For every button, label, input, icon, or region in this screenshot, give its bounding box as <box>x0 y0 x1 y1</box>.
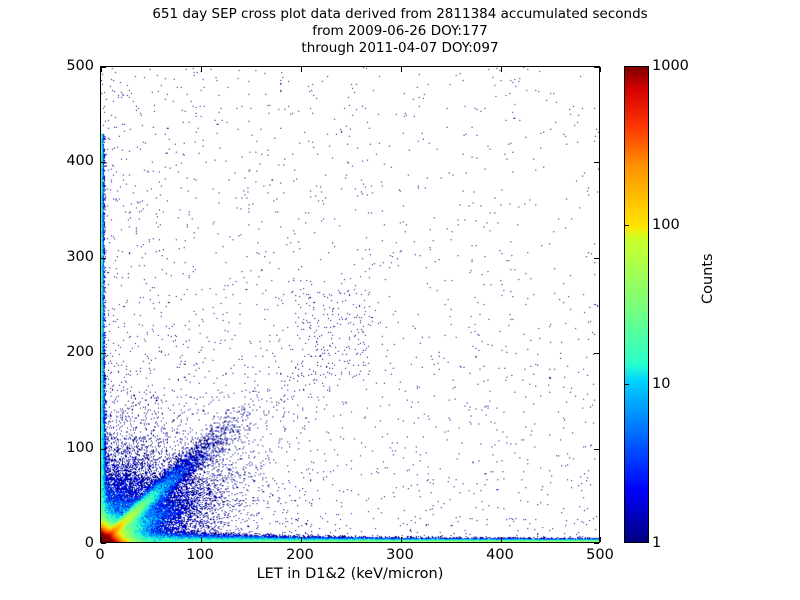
x-tick <box>401 67 402 72</box>
x-tick <box>301 537 302 542</box>
y-tick <box>101 162 106 163</box>
y-tick-label: 300 <box>66 249 94 265</box>
x-axis-label: LET in D1&2 (keV/micron) <box>100 566 600 582</box>
colorbar-tick-label: 1000 <box>652 58 689 74</box>
x-tick <box>201 67 202 72</box>
colorbar-tick-label: 100 <box>652 217 680 233</box>
colorbar-tick-label: 1 <box>652 535 661 551</box>
y-tick <box>594 67 599 68</box>
x-tick <box>301 67 302 72</box>
y-tick-label: 400 <box>66 153 94 169</box>
title-line-3: through 2011-04-07 DOY:097 <box>0 40 800 57</box>
x-tick <box>401 537 402 542</box>
colorbar-gradient <box>624 66 649 543</box>
x-tick-label: 0 <box>95 547 104 563</box>
y-tick <box>101 449 106 450</box>
x-tick-label: 400 <box>486 547 514 563</box>
y-tick-label: 200 <box>66 344 94 360</box>
y-tick <box>101 67 106 68</box>
figure-title: 651 day SEP cross plot data derived from… <box>0 6 800 57</box>
title-line-2: from 2009-06-26 DOY:177 <box>0 23 800 40</box>
x-tick <box>600 67 601 72</box>
x-tick-label: 500 <box>586 547 614 563</box>
y-tick <box>594 449 599 450</box>
x-tick <box>101 537 102 542</box>
y-tick-label: 500 <box>66 58 94 74</box>
y-tick <box>101 543 106 544</box>
y-tick <box>101 353 106 354</box>
x-tick <box>201 537 202 542</box>
colorbar-tick-label: 10 <box>652 376 670 392</box>
y-tick-label: 0 <box>85 535 94 551</box>
colorbar-tick <box>624 384 629 385</box>
x-tick <box>501 67 502 72</box>
y-tick <box>594 353 599 354</box>
x-tick-label: 200 <box>286 547 314 563</box>
colorbar-tick <box>624 225 629 226</box>
y-tick <box>594 258 599 259</box>
x-tick <box>501 537 502 542</box>
x-tick <box>600 537 601 542</box>
y-tick <box>594 162 599 163</box>
y-tick <box>594 543 599 544</box>
title-line-1: 651 day SEP cross plot data derived from… <box>0 6 800 23</box>
y-tick <box>101 258 106 259</box>
y-tick-label: 100 <box>66 440 94 456</box>
density-scatter-canvas <box>101 67 599 542</box>
x-tick-label: 100 <box>186 547 214 563</box>
plot-axes[interactable] <box>100 66 600 543</box>
colorbar-label: Counts <box>700 253 716 304</box>
x-tick-label: 300 <box>386 547 414 563</box>
colorbar[interactable] <box>624 66 649 543</box>
figure-root: 651 day SEP cross plot data derived from… <box>0 0 800 600</box>
